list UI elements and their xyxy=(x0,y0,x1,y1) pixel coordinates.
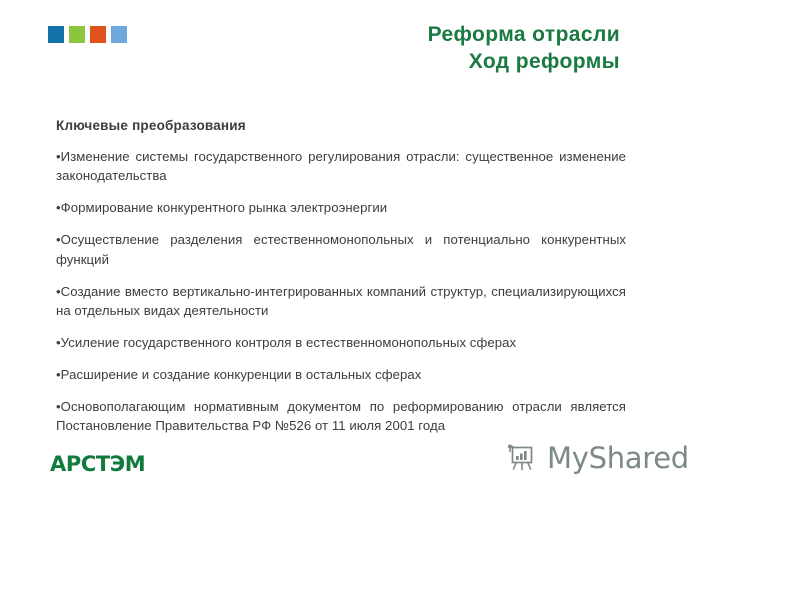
bullet-item: •Расширение и создание конкуренции в ост… xyxy=(56,365,626,384)
slide-title-block: Реформа отрасли Ход реформы xyxy=(428,22,620,76)
bullet-item: •Создание вместо вертикально-интегрирова… xyxy=(56,282,626,320)
content-heading: Ключевые преобразования xyxy=(56,118,626,133)
presentation-slide: Реформа отрасли Ход реформы Ключевые пре… xyxy=(0,0,800,600)
slide-header: Реформа отрасли Ход реформы xyxy=(0,0,800,95)
bullet-item: •Усиление государственного контроля в ес… xyxy=(56,333,626,352)
decorative-squares-logo xyxy=(48,26,127,43)
square-light-blue-icon xyxy=(111,26,127,43)
slide-title-line-1: Реформа отрасли xyxy=(428,22,620,49)
square-orange-icon xyxy=(90,26,106,43)
bullet-item: •Основополагающим нормативным документом… xyxy=(56,397,626,435)
bullet-item: •Изменение системы государственного регу… xyxy=(56,147,626,185)
bullet-item: •Осуществление разделения естественномон… xyxy=(56,230,626,268)
myshared-label: MyShared xyxy=(547,441,689,475)
presentation-chart-icon xyxy=(505,441,539,475)
square-green-icon xyxy=(69,26,85,43)
slide-content: Ключевые преобразования •Изменение систе… xyxy=(56,118,626,449)
slide-title-line-2: Ход реформы xyxy=(428,49,620,76)
square-blue-icon xyxy=(48,26,64,43)
bullet-item: •Формирование конкурентного рынка электр… xyxy=(56,198,626,217)
myshared-watermark: MyShared xyxy=(505,441,689,475)
arstem-brand-logo: АРСТЭМ xyxy=(50,452,145,476)
